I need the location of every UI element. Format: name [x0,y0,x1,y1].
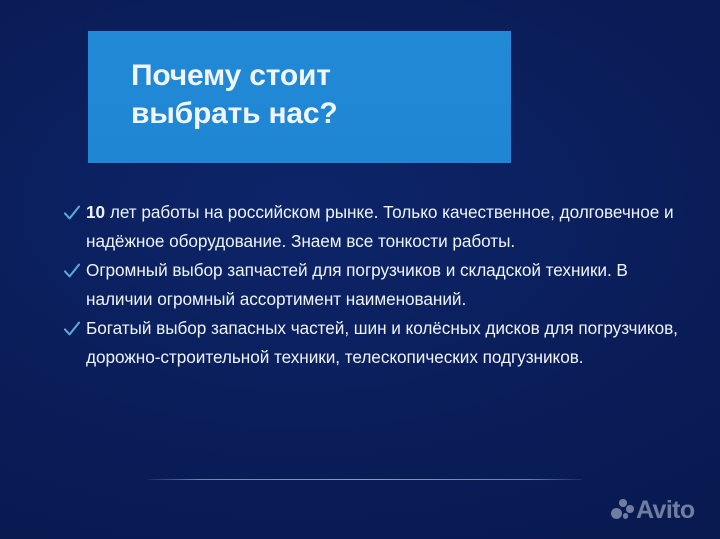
slide-title-line-2: выбрать нас? [131,95,511,133]
list-item-text: 10 лет работы на российском рынке. Тольк… [86,198,678,255]
list-item-text: Огромный выбор запчастей для погрузчиков… [86,256,678,313]
check-icon [62,316,82,342]
benefits-list: 10 лет работы на российском рынке. Тольк… [62,198,687,373]
avito-watermark-label: Avito [636,499,695,521]
list-item: Огромный выбор запчастей для погрузчиков… [62,256,687,313]
avito-dots-logo-icon [611,499,634,521]
avito-watermark: Avito [611,499,695,521]
slide-title-block: Почему стоит выбрать нас? [88,31,511,163]
list-item-body: лет работы на российском рынке. Только к… [86,202,674,251]
check-icon [62,258,82,284]
list-item-text: Богатый выбор запасных частей, шин и кол… [86,314,678,371]
slide-title-line-1: Почему стоит [131,57,511,95]
list-item: 10 лет работы на российском рынке. Тольк… [62,198,687,255]
list-item: Богатый выбор запасных частей, шин и кол… [62,314,687,371]
list-item-lead: 10 [86,202,105,222]
divider [148,479,582,480]
check-icon [62,200,82,226]
list-item-body: Богатый выбор запасных частей, шин и кол… [86,318,678,367]
presentation-slide: Почему стоит выбрать нас? 10 лет работы … [0,0,720,539]
list-item-body: Огромный выбор запчастей для погрузчиков… [86,260,628,309]
